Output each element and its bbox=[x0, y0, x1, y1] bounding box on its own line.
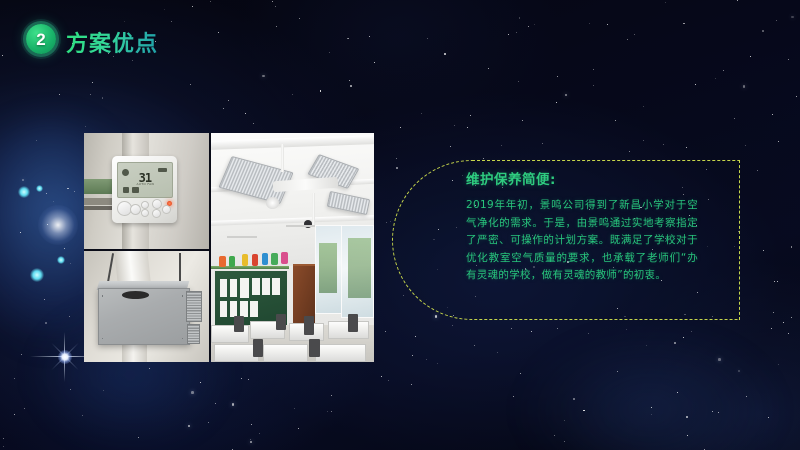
classroom-chair bbox=[304, 316, 314, 334]
wall-decoration-3 bbox=[242, 254, 249, 265]
star bbox=[251, 424, 252, 425]
star bbox=[327, 411, 328, 412]
board-card bbox=[220, 301, 228, 317]
star bbox=[646, 345, 647, 346]
star bbox=[403, 295, 404, 296]
star bbox=[583, 410, 585, 412]
star bbox=[629, 151, 630, 152]
star bbox=[773, 312, 774, 313]
star bbox=[421, 113, 422, 114]
star bbox=[292, 94, 293, 95]
star bbox=[686, 416, 688, 418]
duct-collar bbox=[122, 291, 150, 299]
star bbox=[777, 281, 778, 282]
star bbox=[426, 359, 427, 360]
star bbox=[350, 85, 352, 87]
star bbox=[474, 345, 475, 346]
star bbox=[188, 425, 191, 428]
ceiling-fan-left bbox=[227, 236, 256, 238]
callout-heading: 维护保养简便: bbox=[466, 168, 698, 188]
controller-lcd: 31 AUTO FAN bbox=[117, 162, 172, 198]
slide-header: 2 方案优点 bbox=[0, 0, 800, 70]
photo-classroom bbox=[211, 133, 374, 362]
star bbox=[232, 403, 235, 406]
star bbox=[250, 441, 253, 444]
star bbox=[677, 392, 678, 393]
star bbox=[573, 398, 575, 400]
controller-button-mode[interactable] bbox=[130, 204, 141, 215]
star bbox=[643, 106, 644, 107]
star bbox=[396, 167, 398, 169]
star bbox=[564, 420, 565, 421]
photo-air-unit bbox=[84, 251, 209, 362]
star bbox=[615, 120, 616, 121]
star bbox=[253, 123, 254, 124]
star bbox=[687, 435, 688, 436]
controller-button-set[interactable] bbox=[162, 205, 171, 214]
star bbox=[554, 435, 555, 436]
star bbox=[262, 75, 265, 78]
star bbox=[593, 85, 594, 86]
star bbox=[46, 193, 47, 194]
wall-green-band bbox=[84, 179, 112, 194]
star bbox=[497, 352, 498, 353]
wall-decoration-5 bbox=[262, 253, 269, 264]
star bbox=[70, 389, 71, 390]
star bbox=[743, 85, 746, 88]
star bbox=[520, 373, 521, 374]
star bbox=[723, 70, 724, 71]
classroom-chair bbox=[348, 314, 358, 332]
section-number-label: 2 bbox=[36, 31, 45, 48]
star bbox=[22, 179, 25, 182]
star bbox=[102, 98, 103, 99]
star bbox=[138, 437, 139, 438]
classroom-chair bbox=[253, 339, 263, 357]
star bbox=[298, 428, 299, 429]
star bbox=[381, 376, 382, 377]
classroom-chair bbox=[234, 316, 244, 332]
star bbox=[67, 188, 69, 190]
star bbox=[90, 94, 91, 95]
window-foliage-2 bbox=[348, 238, 371, 298]
star bbox=[388, 380, 389, 381]
callout-body-text: 2019年年初，景鸣公司得到了新昌小学对于空气净化的需求。于是，由景鸣通过实地考… bbox=[466, 197, 698, 285]
star bbox=[734, 118, 735, 119]
page-title: 方案优点 bbox=[66, 26, 158, 58]
star bbox=[435, 315, 438, 318]
star bbox=[683, 337, 684, 338]
cyan-star-a bbox=[18, 186, 30, 198]
star bbox=[651, 414, 652, 415]
star bbox=[190, 84, 191, 85]
window-foliage-1 bbox=[319, 243, 337, 293]
controller-button-up[interactable] bbox=[141, 201, 149, 209]
star bbox=[385, 331, 386, 332]
star bbox=[85, 126, 86, 127]
cyan-star-b bbox=[30, 268, 44, 282]
unit-vent-lower bbox=[187, 324, 200, 344]
star bbox=[390, 221, 391, 222]
star bbox=[250, 439, 251, 440]
star bbox=[565, 94, 568, 97]
star bbox=[745, 145, 746, 146]
classroom-desk bbox=[214, 344, 258, 362]
star bbox=[531, 331, 532, 332]
star bbox=[643, 140, 644, 141]
star bbox=[771, 328, 772, 329]
board-card bbox=[262, 278, 270, 295]
wall-decoration-1 bbox=[219, 256, 226, 267]
star bbox=[778, 364, 779, 365]
star bbox=[483, 158, 484, 159]
controller-button-timer[interactable] bbox=[152, 209, 161, 218]
star bbox=[437, 363, 438, 364]
star bbox=[331, 395, 332, 396]
star bbox=[674, 342, 676, 344]
star bbox=[3, 446, 4, 447]
star bbox=[396, 158, 397, 159]
star bbox=[556, 102, 557, 103]
wall-decoration-6 bbox=[271, 253, 278, 264]
cyan-star-c bbox=[57, 256, 65, 264]
star bbox=[294, 408, 295, 409]
ceiling-fan-right bbox=[286, 225, 315, 227]
star bbox=[14, 414, 15, 415]
star bbox=[718, 358, 721, 361]
star bbox=[617, 371, 618, 372]
ceiling-duct-drop bbox=[281, 144, 284, 171]
star bbox=[400, 127, 401, 128]
star bbox=[738, 370, 741, 373]
ceiling-light-dome bbox=[266, 197, 279, 208]
star bbox=[74, 191, 75, 192]
star bbox=[69, 316, 70, 317]
star bbox=[248, 379, 249, 380]
star bbox=[149, 368, 150, 369]
star bbox=[412, 355, 413, 356]
board-card bbox=[240, 278, 249, 297]
star bbox=[452, 325, 453, 326]
wall-decoration-7 bbox=[281, 252, 288, 263]
star bbox=[715, 78, 716, 79]
star bbox=[191, 391, 194, 394]
star bbox=[82, 415, 83, 416]
star bbox=[470, 115, 471, 116]
flare-core bbox=[58, 350, 72, 364]
star bbox=[53, 201, 55, 203]
star bbox=[320, 90, 322, 92]
board-card bbox=[220, 279, 228, 296]
star bbox=[663, 144, 664, 145]
star bbox=[522, 120, 524, 122]
lcd-mode-icon bbox=[158, 168, 167, 172]
star bbox=[228, 100, 229, 101]
classroom-desk bbox=[315, 344, 366, 362]
star bbox=[70, 263, 71, 264]
star bbox=[14, 378, 15, 379]
photo-collage: 31 AUTO FAN bbox=[84, 133, 372, 360]
unit-screw bbox=[102, 295, 104, 297]
star bbox=[103, 390, 104, 391]
star bbox=[791, 317, 792, 318]
star bbox=[21, 354, 22, 355]
star bbox=[215, 403, 216, 404]
star bbox=[501, 145, 502, 146]
star bbox=[718, 412, 719, 413]
star bbox=[223, 108, 224, 109]
star bbox=[712, 411, 713, 412]
star bbox=[92, 82, 93, 83]
star bbox=[588, 333, 589, 334]
board-card bbox=[240, 301, 248, 317]
star bbox=[778, 141, 779, 142]
star bbox=[3, 438, 4, 439]
callout-content: 维护保养简便: 2019年年初，景鸣公司得到了新昌小学对于空气净化的需求。于是，… bbox=[466, 168, 698, 285]
star bbox=[686, 147, 687, 148]
star bbox=[513, 396, 514, 397]
star bbox=[467, 127, 468, 128]
classroom-desk bbox=[263, 344, 307, 362]
controller-device: 31 AUTO FAN bbox=[112, 156, 177, 223]
star bbox=[796, 96, 797, 97]
star bbox=[349, 80, 350, 81]
star bbox=[788, 333, 789, 334]
star bbox=[557, 328, 558, 329]
star bbox=[102, 97, 103, 98]
star bbox=[791, 246, 793, 248]
star bbox=[774, 281, 775, 282]
star bbox=[783, 322, 784, 323]
board-card bbox=[230, 279, 238, 296]
flare-star bbox=[64, 356, 66, 358]
classroom-chair bbox=[276, 314, 286, 330]
star bbox=[772, 114, 773, 115]
ceiling-duct-drop-2 bbox=[312, 193, 315, 225]
wall-decoration-2 bbox=[229, 256, 236, 267]
cyan-star-d bbox=[36, 185, 43, 192]
star bbox=[208, 422, 209, 423]
star bbox=[45, 322, 47, 324]
star bbox=[411, 384, 412, 385]
star bbox=[245, 113, 246, 114]
star bbox=[415, 336, 416, 337]
star bbox=[542, 143, 543, 144]
lcd-snowflake-icon bbox=[122, 169, 129, 176]
star bbox=[757, 170, 758, 171]
section-number-badge: 2 bbox=[26, 24, 56, 54]
lcd-fan-icon bbox=[132, 187, 139, 193]
star bbox=[454, 125, 455, 126]
star bbox=[763, 250, 764, 251]
star bbox=[59, 94, 60, 95]
controller-button-down[interactable] bbox=[141, 209, 149, 217]
board-card bbox=[250, 301, 258, 317]
star bbox=[44, 299, 45, 300]
star bbox=[511, 328, 512, 329]
slide-root: 2 方案优点 31 AUTO FAN bbox=[0, 0, 800, 450]
star bbox=[768, 417, 769, 418]
star bbox=[20, 232, 21, 233]
star bbox=[36, 140, 37, 141]
star bbox=[259, 433, 260, 434]
unit-screw bbox=[182, 295, 184, 297]
star bbox=[651, 407, 652, 408]
star bbox=[386, 222, 387, 223]
star bbox=[695, 84, 696, 85]
star bbox=[626, 329, 627, 330]
star bbox=[450, 146, 451, 147]
unit-vent-upper bbox=[186, 291, 202, 322]
classroom-chair bbox=[309, 339, 320, 357]
star bbox=[564, 441, 565, 442]
star bbox=[746, 396, 747, 397]
star bbox=[24, 408, 25, 409]
star bbox=[518, 81, 519, 82]
star bbox=[200, 382, 201, 383]
lcd-recycle-icon bbox=[123, 187, 129, 193]
wall-decoration-4 bbox=[252, 254, 259, 265]
controller-button-fan[interactable] bbox=[152, 199, 162, 209]
board-card bbox=[252, 278, 260, 295]
wall-grey-band bbox=[84, 198, 112, 205]
star bbox=[64, 248, 65, 249]
board-card bbox=[272, 278, 280, 295]
star bbox=[241, 378, 242, 379]
lcd-sub-label: AUTO FAN bbox=[136, 182, 154, 186]
star bbox=[691, 331, 692, 332]
star bbox=[557, 76, 558, 77]
star bbox=[331, 411, 332, 412]
photo-controller: 31 AUTO FAN bbox=[84, 133, 209, 249]
board-card bbox=[230, 301, 238, 317]
bright-star-glow bbox=[38, 205, 78, 245]
